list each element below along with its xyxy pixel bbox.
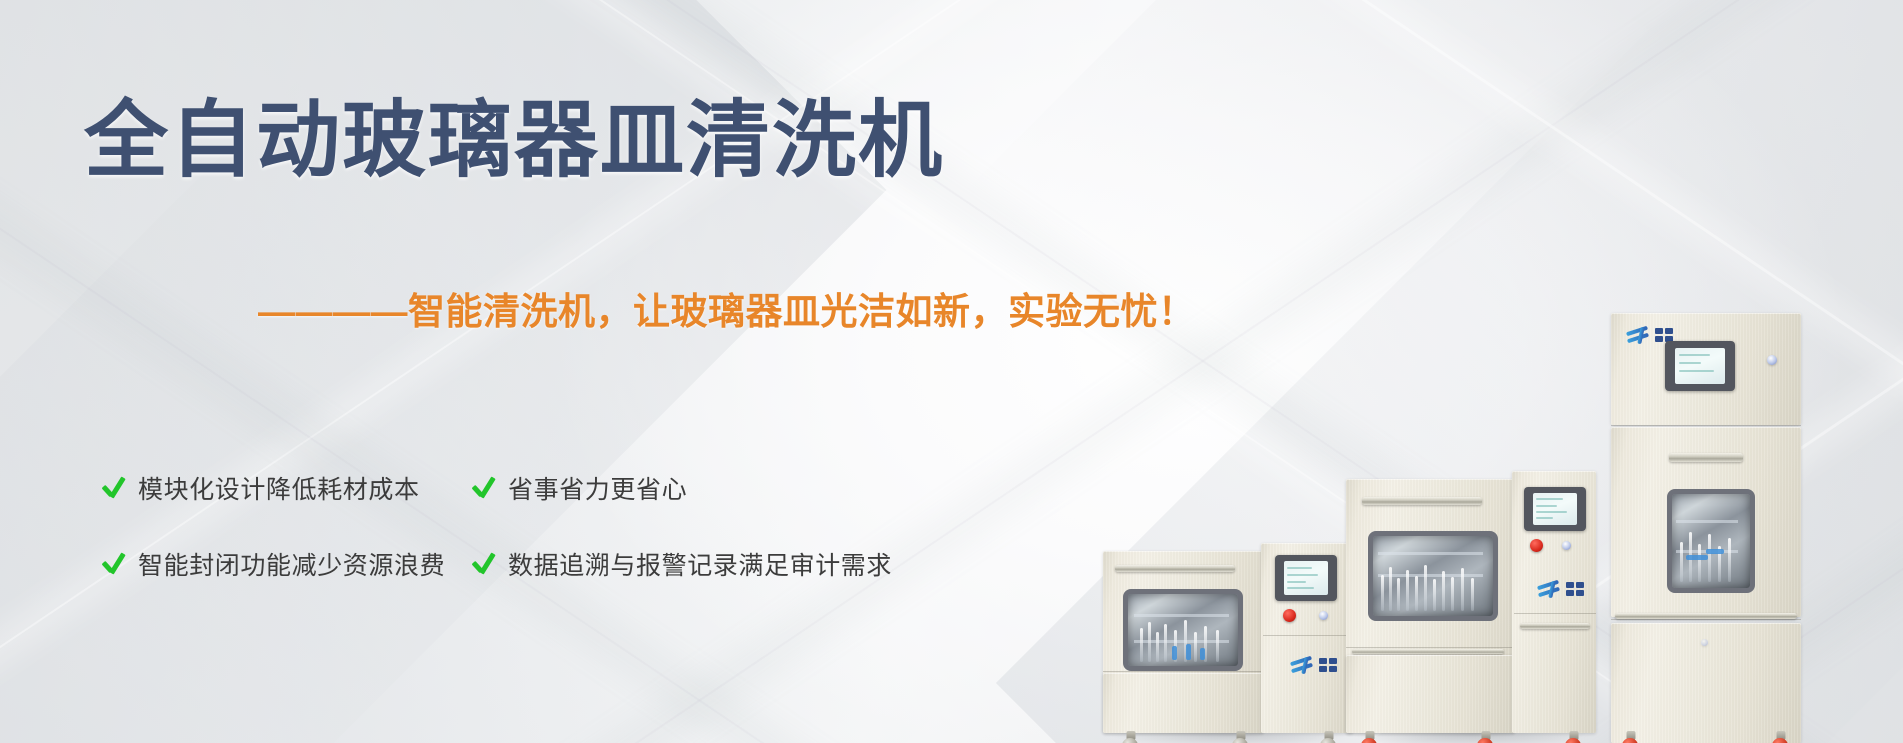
glass-tube (1389, 567, 1392, 611)
glass-tube (1415, 576, 1418, 611)
panel-seam (1346, 647, 1514, 648)
power-button[interactable] (1319, 611, 1328, 620)
feature-item: 数据追溯与报警记录满足审计需求 (470, 546, 990, 582)
check-icon (100, 475, 126, 501)
glass-tube (1680, 542, 1683, 582)
glass-tube (1156, 632, 1159, 662)
banner-copy: 全自动玻璃器皿清洗机 ————智能清洗机，让玻璃器皿光洁如新，实验无忧！ 模块化… (0, 0, 1120, 743)
product-image-benchtop-glassware-washer (1103, 543, 1353, 743)
panel-seam (1611, 619, 1801, 620)
brand-wordmark (1566, 582, 1584, 596)
feature-label: 省事省力更省心 (508, 470, 687, 506)
feature-item: 模块化设计降低耗材成本 (100, 470, 470, 506)
glass-tube (1433, 579, 1436, 611)
blue-nozzle (1186, 644, 1191, 660)
feature-item: 省事省力更省心 (470, 470, 990, 506)
panel-seam (1263, 635, 1351, 636)
viewing-window (1667, 489, 1755, 593)
check-icon (470, 475, 496, 501)
caster-wheel (1621, 731, 1641, 743)
lower-access-panel (1103, 673, 1263, 733)
panel-seam (1514, 613, 1596, 614)
panel-seam (1103, 671, 1263, 672)
lower-door-handle (1615, 613, 1797, 619)
caster-wheel (1360, 731, 1380, 743)
rack-bar (1378, 552, 1483, 555)
hmi-touchscreen[interactable] (1665, 341, 1735, 391)
feature-label: 模块化设计降低耗材成本 (138, 470, 420, 506)
glass-tube (1698, 544, 1701, 582)
product-banner: 全自动玻璃器皿清洗机 ————智能清洗机，让玻璃器皿光洁如新，实验无忧！ 模块化… (0, 0, 1903, 743)
door-handle (1115, 565, 1235, 572)
glassware-load (1672, 494, 1750, 588)
check-icon (100, 551, 126, 577)
glass-tube (1406, 570, 1409, 611)
side-door-handle (1520, 623, 1590, 629)
lower-access-panel (1346, 655, 1514, 733)
glassware-load (1373, 536, 1493, 616)
emergency-stop-button[interactable] (1530, 539, 1543, 552)
glass-tube (1140, 628, 1143, 662)
feature-item: 智能封闭功能减少资源浪费 (100, 546, 470, 582)
rack-bar (1378, 574, 1483, 577)
brand-mark-icon (1289, 655, 1315, 675)
glass-tube (1708, 534, 1711, 582)
hmi-screen[interactable] (1533, 493, 1578, 525)
glass-tube (1442, 571, 1445, 611)
blue-nozzle (1686, 555, 1708, 560)
emergency-stop-button[interactable] (1283, 609, 1296, 622)
door-handle (1362, 497, 1482, 505)
glass-tube (1451, 577, 1454, 611)
hmi-touchscreen[interactable] (1275, 555, 1337, 601)
feature-row: 智能封闭功能减少资源浪费 数据追溯与报警记录满足审计需求 (100, 546, 1000, 582)
product-images (1103, 0, 1903, 743)
caster-wheel (1319, 731, 1339, 743)
brand-wordmark (1319, 658, 1337, 672)
hmi-screen[interactable] (1284, 561, 1329, 594)
indicator-light (1701, 639, 1708, 646)
lower-door-handle (1352, 649, 1504, 654)
rack-bar (1676, 520, 1738, 523)
blue-nozzle (1172, 646, 1177, 660)
viewing-window (1123, 589, 1243, 671)
feature-label: 智能封闭功能减少资源浪费 (138, 546, 445, 582)
glass-tube (1216, 630, 1219, 662)
glassware-load (1128, 594, 1238, 666)
caster-wheel (1476, 731, 1496, 743)
product-image-undercounter-glassware-washer (1346, 471, 1596, 743)
hmi-touchscreen[interactable] (1524, 487, 1586, 531)
rack-bar (1134, 614, 1229, 617)
banner-subheadline: ————智能清洗机，让玻璃器皿光洁如新，实验无忧！ (258, 290, 1196, 334)
feature-row: 模块化设计降低耗材成本 省事省力更省心 (100, 470, 1000, 506)
brand-logo (1536, 579, 1584, 599)
caster-wheel (1121, 731, 1141, 743)
brand-logo (1289, 655, 1337, 675)
viewing-window (1368, 531, 1498, 621)
brand-wordmark (1655, 328, 1673, 342)
feature-label: 数据追溯与报警记录满足审计需求 (508, 546, 892, 582)
glass-tube (1164, 624, 1167, 662)
caster-wheel (1231, 731, 1251, 743)
glass-tube (1461, 568, 1464, 611)
power-button[interactable] (1562, 541, 1571, 550)
glass-tube (1424, 565, 1427, 611)
glass-tube (1148, 622, 1151, 662)
feature-list: 模块化设计降低耗材成本 省事省力更省心 智能封闭功能减少资源浪费 数据追溯与报警… (100, 470, 1000, 582)
glass-tube (1471, 578, 1474, 611)
glass-tube (1397, 578, 1400, 611)
panel-seam (1611, 425, 1801, 426)
door-handle (1669, 453, 1743, 462)
brand-mark-icon (1536, 579, 1562, 599)
check-icon (470, 551, 496, 577)
blue-nozzle (1200, 648, 1205, 660)
glass-tube (1728, 538, 1731, 582)
caster-wheel (1564, 731, 1584, 743)
caster-wheel (1771, 731, 1791, 743)
product-image-tall-column-glassware-washer (1611, 313, 1803, 743)
banner-headline: 全自动玻璃器皿清洗机 (84, 96, 944, 185)
hmi-screen[interactable] (1675, 348, 1725, 384)
glass-tube (1194, 632, 1197, 662)
power-button[interactable] (1767, 355, 1777, 365)
brand-mark-icon (1625, 325, 1651, 345)
glass-tube (1381, 575, 1384, 611)
blue-nozzle (1706, 549, 1724, 554)
